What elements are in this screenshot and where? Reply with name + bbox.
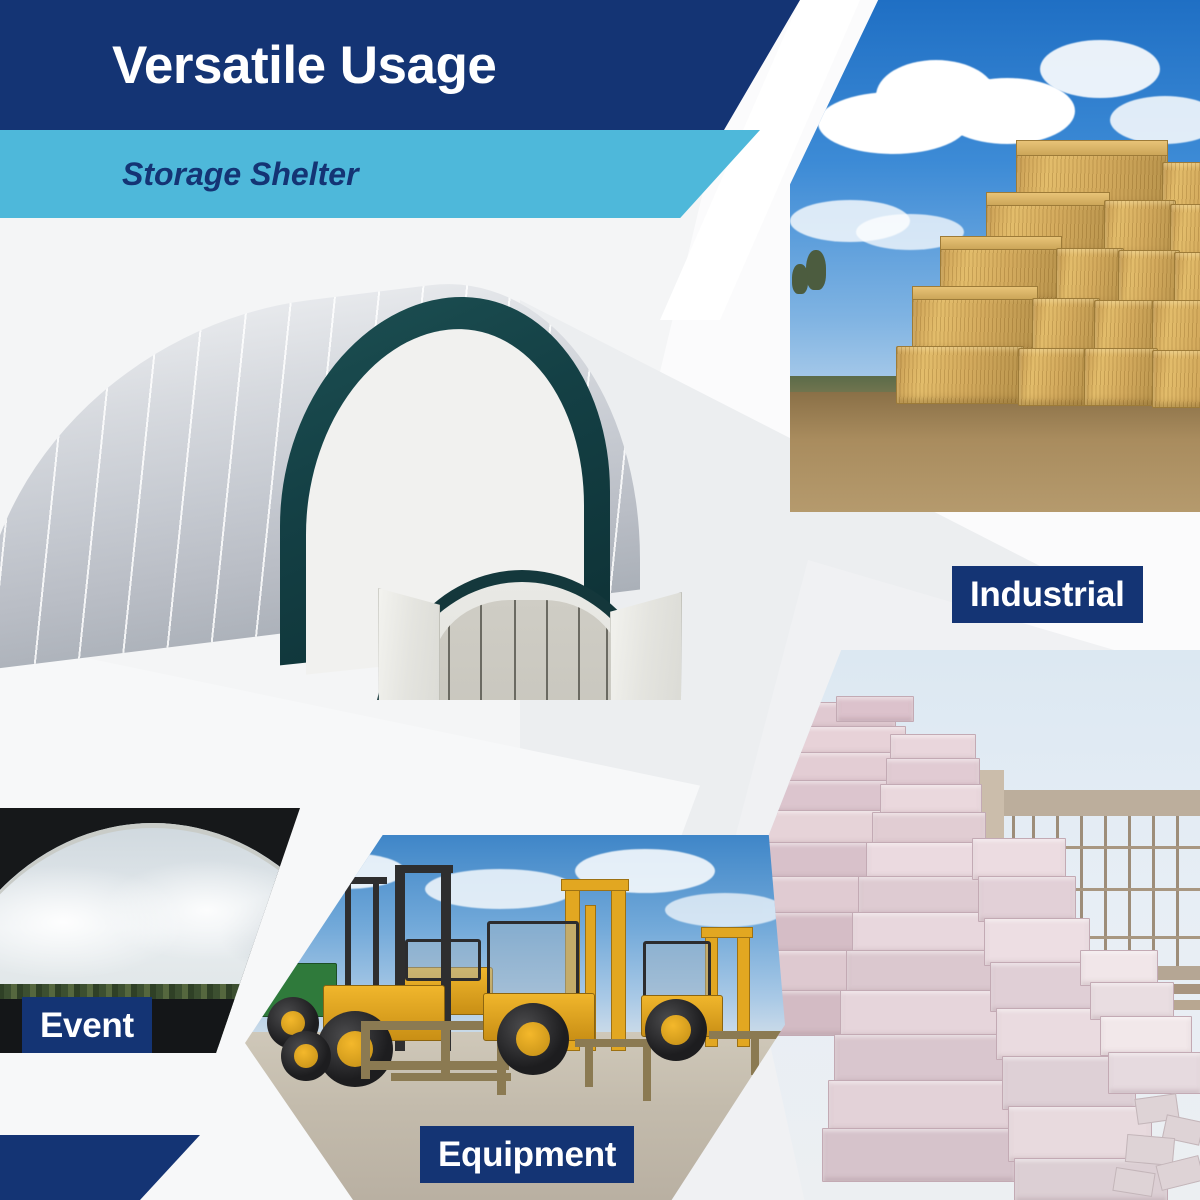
hay-bale [1084, 348, 1158, 406]
page-subtitle: Storage Shelter [122, 158, 359, 190]
cloud [665, 893, 785, 927]
badge-event: Event [22, 997, 152, 1053]
hay-bale-top [986, 192, 1110, 206]
hay-bale [896, 346, 1024, 404]
hay-bale [1018, 348, 1090, 406]
badge-industrial: Industrial [952, 566, 1143, 623]
shelter-door-panel-right [610, 592, 682, 700]
hay-bale [912, 294, 1038, 354]
page-title: Versatile Usage [112, 39, 496, 92]
tree [806, 250, 826, 290]
ground [790, 392, 1200, 512]
infographic-canvas: Agricultural [0, 0, 1200, 1200]
hay-bale [1152, 350, 1200, 408]
photo-agricultural: Agricultural [790, 0, 1200, 512]
badge-equipment: Equipment [420, 1126, 634, 1183]
shelter-door-panel-left [378, 588, 440, 700]
header-title-bar: Versatile Usage [0, 0, 800, 130]
hay-bale-top [912, 286, 1038, 300]
hay-bale-top [1016, 140, 1168, 156]
cloud [285, 853, 405, 889]
concrete-slab [988, 790, 1200, 816]
photo-industrial [740, 650, 1200, 1200]
shelter-interior [432, 600, 622, 700]
hay-bale-top [940, 236, 1062, 250]
tree [792, 264, 808, 294]
footer-accent-wedge [0, 1135, 200, 1200]
photo-storage-shelter [0, 270, 770, 700]
cloud [1040, 40, 1160, 98]
header-subtitle-bar: Storage Shelter [0, 130, 760, 218]
